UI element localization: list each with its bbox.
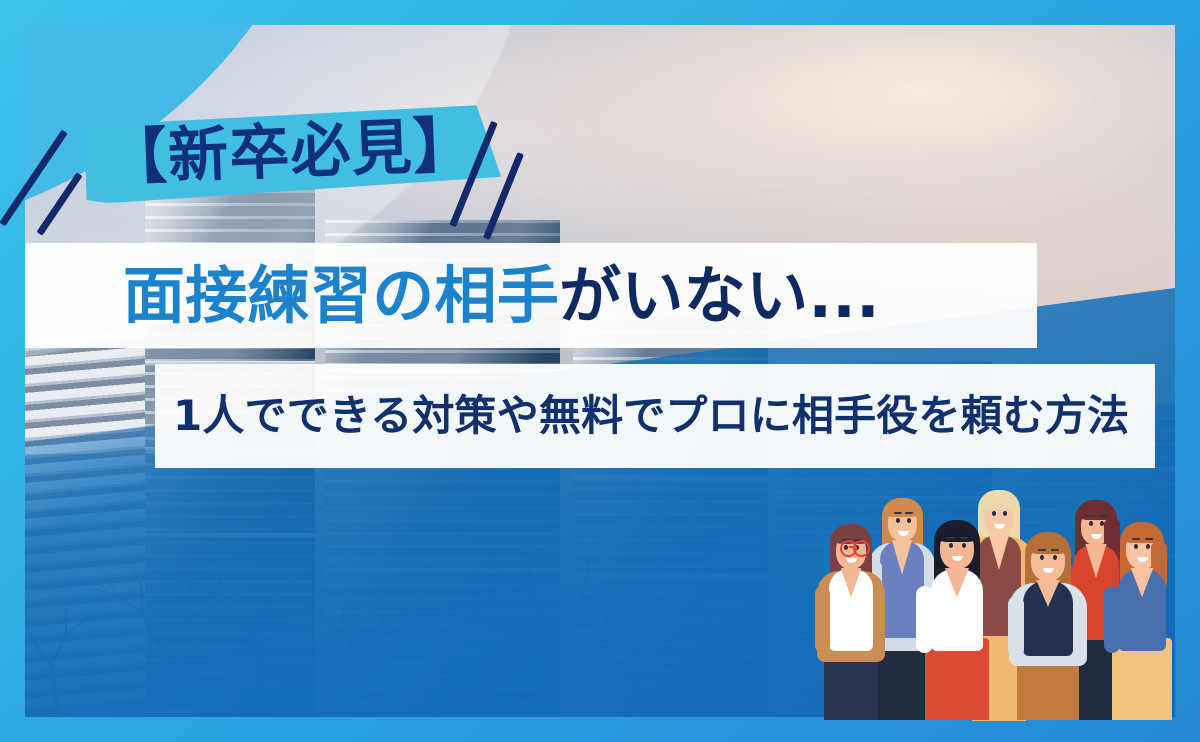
title-rest: がいない... (559, 259, 880, 332)
brow-right (1145, 538, 1153, 540)
brow-right (905, 512, 913, 514)
hair-fringe (937, 524, 977, 542)
thumbnail-canvas: 【新卒必見】 面接練習の相手がいない... 1人でできる対策や無料でプロに相手役… (0, 0, 1200, 742)
eye-left (896, 518, 900, 523)
brow-right (1099, 515, 1107, 517)
brow-left (1132, 538, 1140, 540)
badge-chip: 【新卒必見】 (84, 104, 502, 204)
hair-fringe (885, 502, 920, 517)
figure-woman-ginger-ponytail-blue-sweater (1102, 524, 1182, 717)
arm (1104, 586, 1120, 653)
eye-right (1053, 555, 1057, 560)
brow-left (1038, 549, 1046, 551)
badge-label: 【新卒必見】 (106, 114, 475, 190)
brow-right (1051, 549, 1059, 551)
hair-fringe (1078, 504, 1114, 520)
glasses-bridge (849, 546, 856, 548)
brow-left (947, 537, 955, 539)
eye-right (962, 543, 966, 548)
figure-woman-black-hair-white-blouse-red-skirt (914, 522, 1000, 717)
eye-right (907, 518, 911, 523)
page-subtitle: 1人でできる対策や無料でプロに相手役を頼む方法 (173, 395, 1129, 437)
eye-left (1040, 555, 1044, 560)
headband (980, 498, 1018, 509)
brow-left (894, 512, 902, 514)
hair-fringe (1028, 536, 1068, 554)
page-title: 面接練習の相手がいない... (123, 265, 880, 327)
arm (815, 586, 830, 653)
title-highlight: 面接練習の相手 (123, 259, 559, 332)
brow-left (1087, 515, 1095, 517)
subtitle-band: 1人でできる対策や無料でプロに相手役を頼む方法 (155, 364, 1155, 468)
brow-right (960, 537, 968, 539)
eye-left (1089, 521, 1093, 526)
title-band: 面接練習の相手がいない... (25, 243, 1037, 348)
figure-woman-auburn-hair-grey-cardigan (1006, 534, 1090, 717)
figure-woman-glasses-tan-coat (814, 526, 888, 717)
arm (1008, 596, 1025, 658)
eye-left (949, 543, 953, 548)
hair-fringe (1123, 526, 1161, 543)
badge: 【新卒必見】 (84, 104, 502, 204)
eye-left (992, 511, 996, 516)
arm (916, 586, 933, 653)
people-illustration (810, 482, 1175, 717)
